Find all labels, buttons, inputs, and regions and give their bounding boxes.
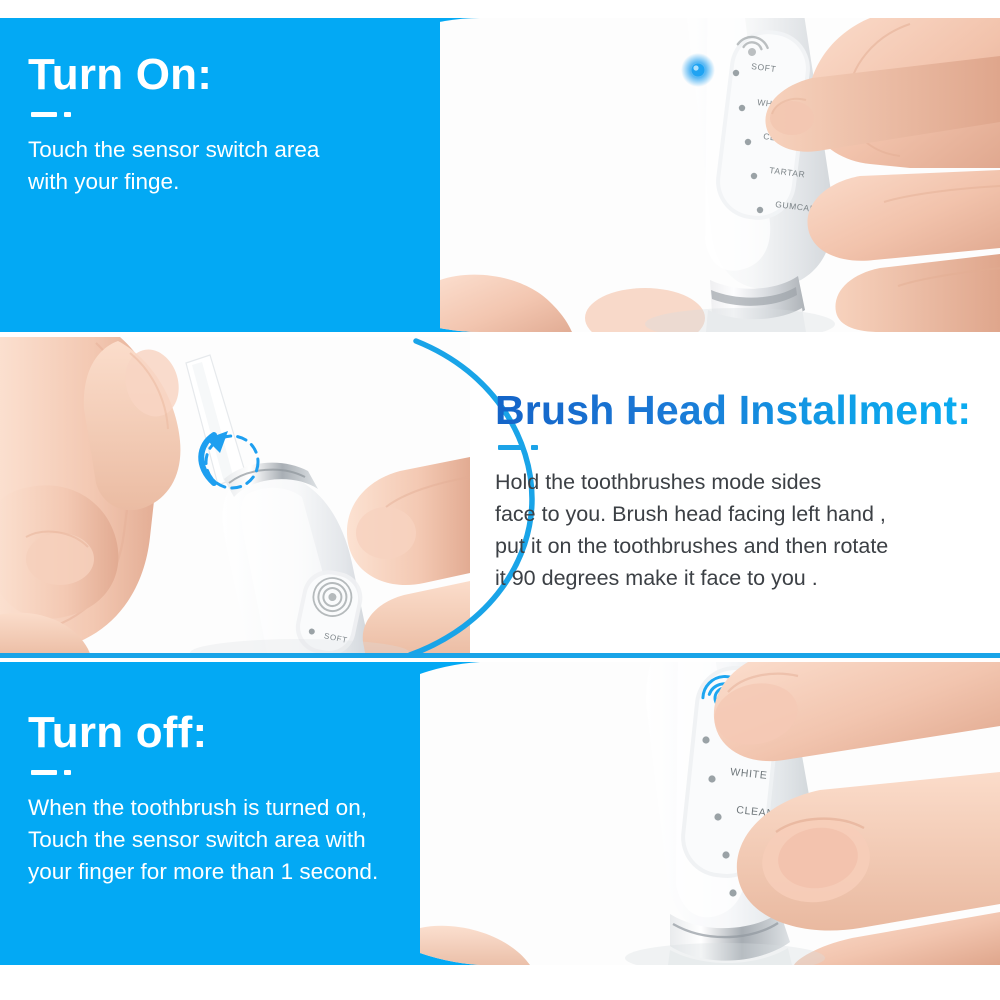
rule-dash: [498, 445, 524, 450]
panel-turn-on-headline: Turn On:: [28, 52, 448, 99]
panel-turn-off-photo: SOFT WHITE CLEAN TARTAR GUMCARE: [420, 662, 1000, 965]
headline-rule: [31, 770, 468, 775]
panel-brush-head-installment-body: Hold the toothbrushes mode sides face to…: [495, 467, 995, 594]
rule-dot: [64, 770, 71, 775]
panel-brush-head-installment-headline: Brush Head Installment:: [495, 389, 995, 432]
panel-turn-on-text: Turn On: Touch the sensor switch area wi…: [28, 52, 448, 198]
panel-turn-on-body: Touch the sensor switch area with your f…: [28, 134, 448, 199]
panel-bottom-border: [0, 653, 1000, 658]
panel-turn-off-headline: Turn off:: [28, 710, 468, 757]
panel-turn-on: SOFT WHITE CLEAN TARTAR GUMCARE: [0, 18, 1000, 332]
rule-dash: [31, 112, 57, 117]
rule-dash: [31, 770, 57, 775]
panel-turn-on-photo: SOFT WHITE CLEAN TARTAR GUMCARE: [440, 18, 1000, 332]
panel-brush-head-installment: SOFT: [0, 337, 1000, 658]
rule-dot: [531, 445, 538, 450]
panel-brush-head-installment-text: Brush Head Installment: Hold the toothbr…: [495, 389, 995, 595]
led-on-indicator: [681, 53, 715, 87]
panel-turn-off: SOFT WHITE CLEAN TARTAR GUMCARE: [0, 662, 1000, 965]
infographic-canvas: SOFT WHITE CLEAN TARTAR GUMCARE: [0, 0, 1000, 1000]
headline-rule: [498, 445, 995, 450]
headline-rule: [31, 112, 448, 117]
panel-turn-off-text: Turn off: When the toothbrush is turned …: [28, 710, 468, 889]
rule-dot: [64, 112, 71, 117]
panel-turn-off-body: When the toothbrush is turned on, Touch …: [28, 792, 468, 889]
